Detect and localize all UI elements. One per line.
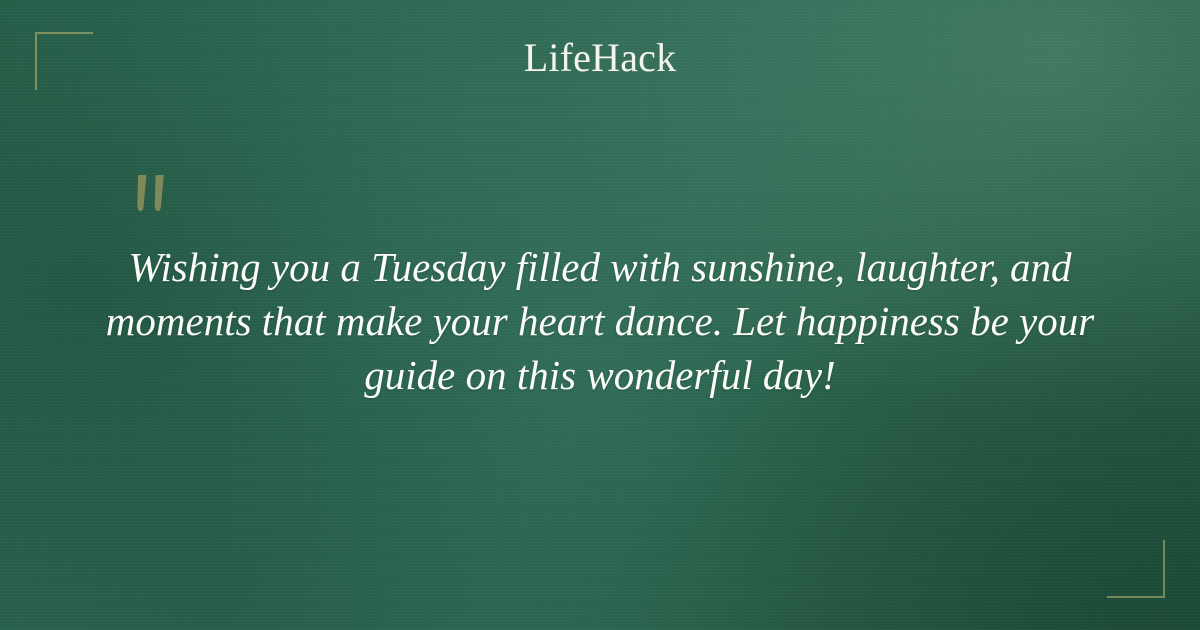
quote-card: LifeHack Wishing you a Tuesday filled wi… [0, 0, 1200, 630]
double-quote-icon [131, 173, 177, 217]
brand-logo-text: LifeHack [524, 35, 677, 80]
brand-logo: LifeHack [0, 38, 1200, 78]
quote-body-text: Wishing you a Tuesday filled with sunshi… [95, 240, 1105, 402]
corner-bracket-bottom-right-icon [1107, 540, 1165, 598]
